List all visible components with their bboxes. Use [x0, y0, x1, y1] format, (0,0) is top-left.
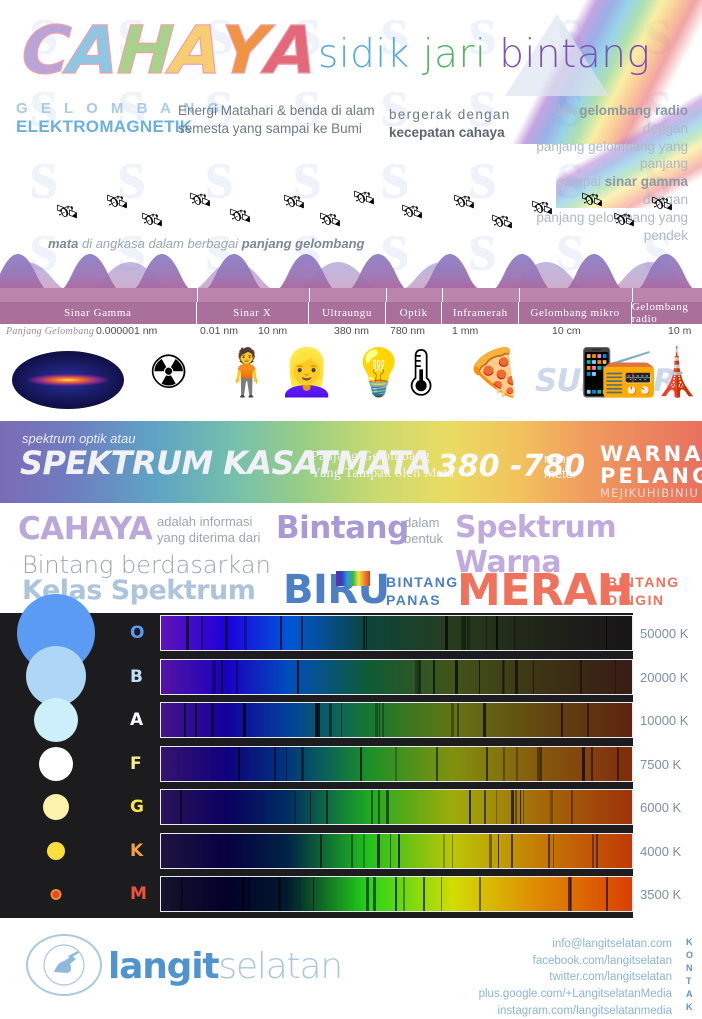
absorption-line — [502, 660, 504, 694]
badge-horse-icon — [36, 942, 92, 988]
satellite-icon: 🛰 — [282, 190, 306, 214]
satellite-icon: 🛰 — [188, 188, 212, 212]
absorption-line — [561, 703, 563, 737]
absorption-line — [244, 616, 247, 650]
title-letter-5: A — [263, 18, 317, 84]
em-scale-label-6: 10 cm — [552, 325, 581, 337]
em-band-sinar-x[interactable]: Sinar X — [197, 302, 309, 324]
em-spectrum-section: Sinar GammaSinar XUltraunguOptikInframer… — [0, 288, 702, 343]
title-letter-4: Y — [218, 18, 268, 84]
title-letter-3: A — [168, 18, 222, 84]
absorption-line — [242, 877, 244, 911]
class-label-F: F — [130, 754, 142, 774]
temperature-O: 50000 K — [640, 626, 702, 641]
intro-col3-line2: kecepatan cahaya — [389, 125, 505, 140]
kontak-letter: N — [686, 962, 694, 975]
satellite-icon: 🛰 — [228, 204, 252, 228]
absorption-line — [617, 747, 619, 781]
absorption-line — [457, 703, 459, 737]
absorption-line — [184, 703, 186, 737]
em-band-gelombang-radio[interactable]: Gelombang radio — [632, 302, 702, 324]
page-subtitle: sidik jari bintang — [318, 32, 650, 77]
satellite-icon: 🛰 — [140, 208, 164, 232]
absorption-line — [479, 877, 481, 911]
absorption-line — [516, 747, 518, 781]
em-tick — [442, 288, 443, 302]
spectrum-strip-F[interactable] — [160, 746, 633, 782]
satellite-icon: 🛰 — [318, 208, 342, 232]
absorption-line — [286, 747, 287, 781]
class-label-O: O — [130, 623, 144, 643]
rainbow-colors-label: WARNA PELANGI MEJIKUHIBINIU — [600, 443, 688, 499]
rainbow-line3: MEJIKUHIBINIU — [600, 487, 688, 499]
class-label-A: A — [130, 710, 143, 730]
absorption-line — [225, 616, 228, 650]
absorption-line — [423, 877, 425, 911]
absorption-line — [382, 703, 384, 737]
absorption-line — [596, 834, 598, 868]
spectrum-strip-O[interactable] — [160, 615, 633, 651]
absorption-line — [489, 834, 492, 868]
absorption-line — [553, 834, 554, 868]
absorption-line — [280, 616, 282, 650]
intro-row: G E L O M B A N G ELEKTROMAGNETIK Energi… — [0, 100, 702, 178]
kontak-letter: K — [686, 1001, 694, 1014]
absorption-line — [452, 834, 453, 868]
em-band-optik[interactable]: Optik — [386, 302, 442, 324]
brand-light: selatan — [218, 946, 342, 987]
spectrum-strip-M[interactable] — [160, 876, 633, 912]
em-scale-label-7: 10 m — [668, 325, 691, 337]
absorption-line — [301, 616, 303, 650]
class-label-M: M — [130, 884, 147, 904]
intro-col4-line1: dari gelombang radio dengan — [512, 102, 688, 138]
absorption-line — [433, 660, 435, 694]
absorption-line — [220, 834, 221, 868]
absorption-line — [520, 790, 521, 824]
satellite-icon: 🛰 — [452, 190, 476, 214]
stmt-cahaya: CAHAYA — [18, 511, 152, 547]
absorption-line — [341, 703, 342, 737]
spectrum-strip-B[interactable] — [160, 659, 633, 695]
infographic-page: CAHAYA sidik jari bintang G E L O M B A … — [0, 0, 702, 1000]
satellite-icon: 🛰 — [105, 190, 129, 214]
satellite-icon: 🛰 — [352, 186, 376, 210]
intro-col2-line2: semesta yang sampai ke Bumi — [178, 120, 375, 138]
stmt-bentuk-line2: bentuk — [404, 531, 443, 547]
stmt-bentuk-line1: dalam — [404, 515, 443, 531]
radio-tower-icon: 🗼 — [648, 349, 702, 395]
intro-col2-line1: Energi Matahari & benda di alam — [178, 102, 375, 120]
stmt-cahaya-note: adalah informasi yang diterima dari — [157, 514, 260, 547]
langitselatan-badge-icon — [26, 934, 102, 996]
class-label-K: K — [130, 841, 143, 861]
star-circle-A — [34, 698, 78, 742]
visible-unit-line1: nano — [544, 452, 577, 467]
stmt-merah-note: BINTANG DINGIN — [607, 574, 680, 609]
intro-col2: Energi Matahari & benda di alam semesta … — [178, 102, 375, 138]
class-label-B: B — [130, 667, 143, 687]
em-scale-label-5: 1 mm — [452, 325, 478, 337]
wave-graphic — [0, 230, 702, 288]
absorption-line — [274, 747, 276, 781]
optical-rainbow-marker — [336, 571, 370, 586]
absorption-line — [195, 703, 197, 737]
absorption-line — [498, 834, 499, 868]
absorption-line — [443, 834, 445, 868]
visible-pg-label: Panjang Gelombang Yang Tampak oleh Mata — [311, 449, 454, 482]
visible-unit-line2: meter — [544, 467, 577, 482]
absorption-line — [451, 703, 454, 737]
stmt-merah-line2: DINGIN — [607, 592, 680, 610]
temperature-A: 10000 K — [640, 713, 702, 728]
visible-spectrum-banner: spektrum optik atau SPEKTRUM KASATMATA P… — [0, 421, 702, 503]
subtitle-word-0: sidik — [318, 32, 423, 77]
gamma-sky-map-icon — [12, 351, 124, 409]
star-circle-K — [47, 842, 65, 860]
absorption-line — [366, 616, 367, 650]
absorption-line — [496, 790, 497, 824]
star-circle-G — [43, 794, 69, 820]
absorption-line — [371, 790, 373, 824]
title-letter-0: C — [20, 18, 71, 84]
absorption-line — [212, 660, 214, 694]
rainbow-line1: WARNA — [600, 443, 688, 465]
absorption-line — [582, 747, 585, 781]
absorption-line — [418, 660, 421, 694]
em-tick-row — [0, 288, 702, 302]
em-axis-label: Panjang Gelombang — [6, 326, 94, 337]
absorption-line — [591, 747, 593, 781]
absorption-line — [606, 616, 607, 650]
absorption-line — [377, 834, 380, 868]
absorption-line — [514, 616, 515, 650]
spectrum-strip-A[interactable] — [160, 702, 633, 738]
absorption-line — [503, 747, 505, 781]
absorption-line — [395, 877, 397, 911]
absorption-line — [363, 616, 365, 650]
em-tick — [519, 288, 520, 302]
temperature-F: 7500 K — [640, 757, 702, 772]
absorption-line — [363, 834, 365, 868]
satellite-icon: 🛰 — [612, 208, 636, 232]
contact-list[interactable]: info@langitselatan.comfacebook.com/langi… — [479, 936, 672, 1019]
absorption-line — [523, 790, 524, 824]
absorption-line — [297, 660, 299, 694]
absorption-line — [455, 660, 458, 694]
absorption-line — [243, 703, 246, 737]
em-scale-label-3: 380 nm — [334, 325, 369, 337]
kontak-label: KONTAK — [686, 936, 694, 1014]
absorption-line — [315, 703, 318, 737]
stmt-bentuk-note: dalam bentuk — [404, 515, 443, 546]
absorption-line — [395, 747, 397, 781]
absorption-line — [386, 790, 389, 824]
absorption-line — [329, 703, 332, 737]
subtitle-word-2: bintang — [499, 32, 650, 77]
absorption-line — [238, 747, 240, 781]
contact-item-4[interactable]: instagram.com/langitselatanmedia — [479, 1003, 672, 1019]
satellite-icon: 🛰 — [400, 200, 424, 224]
absorption-line — [398, 834, 400, 868]
contact-item-1[interactable]: facebook.com/langitselatan — [479, 953, 672, 970]
statements-section: CAHAYA adalah informasi yang diterima da… — [0, 503, 702, 613]
temperature-M: 3500 K — [640, 887, 702, 902]
absorption-line — [592, 834, 594, 868]
absorption-line — [479, 660, 480, 694]
satellite-icon: 🛰 — [55, 200, 79, 224]
brand-logo[interactable]: langitselatan — [108, 946, 342, 987]
em-sources-row: SUMBER ☢🧍👱‍♀️💡🌡🍕📱📻🗼 — [0, 343, 702, 421]
stmt-note-line1: adalah informasi — [157, 514, 260, 530]
rainbow-line2: PELANGI — [600, 465, 688, 487]
em-wavelength-scale: Panjang Gelombang 0.000001 nm0.01 nm10 n… — [0, 324, 702, 343]
contact-item-2[interactable]: twitter.com/langitselatan — [479, 969, 672, 986]
absorption-line — [360, 747, 362, 781]
absorption-line — [571, 790, 573, 824]
absorption-line — [186, 616, 189, 650]
satellite-icon: 🛰 — [650, 192, 674, 216]
temperature-G: 6000 K — [640, 800, 702, 815]
em-band-bar: Sinar GammaSinar XUltraunguOptikInframer… — [0, 302, 702, 324]
em-tick — [309, 288, 310, 302]
absorption-line — [201, 616, 203, 650]
absorption-line — [580, 660, 582, 694]
absorption-line — [511, 790, 514, 824]
absorption-line — [248, 877, 250, 911]
satellite-icon: 🛰 — [580, 188, 604, 212]
em-band-inframerah[interactable]: Inframerah — [442, 302, 519, 324]
intro-col3-line1: bergerak dengan — [389, 106, 511, 124]
uv-sunbathing-icon: 👱‍♀️ — [278, 349, 335, 395]
class-label-G: G — [130, 797, 144, 817]
absorption-line — [299, 877, 300, 911]
satellite-icon: 🛰 — [530, 196, 554, 220]
kontak-letter: A — [686, 988, 694, 1001]
brand-bold: langit — [108, 946, 218, 987]
absorption-line — [378, 790, 380, 824]
em-scale-label-1: 0.01 nm — [200, 325, 238, 337]
absorption-line — [403, 877, 405, 911]
temperature-B: 20000 K — [640, 670, 702, 685]
absorption-line — [445, 616, 448, 650]
absorption-line — [180, 790, 182, 824]
absorption-line — [375, 703, 378, 737]
absorption-line — [221, 660, 223, 694]
contact-item-3[interactable]: plus.google.com/+LangitselatanMedia — [479, 986, 672, 1003]
intro-col3: bergerak dengan kecepatan cahaya — [389, 106, 511, 142]
heater-icon: 🌡 — [392, 349, 450, 395]
em-scale-label-2: 10 nm — [258, 325, 287, 337]
absorption-line — [486, 747, 488, 781]
kontak-letter: K — [686, 936, 694, 949]
title-letter-2: H — [115, 18, 173, 84]
spectrum-strip-G[interactable] — [160, 789, 633, 825]
absorption-line — [515, 790, 517, 824]
xray-person-icon: 🧍 — [218, 349, 275, 395]
contact-item-0[interactable]: info@langitselatan.com — [479, 936, 672, 953]
spectrum-strip-K[interactable] — [160, 833, 633, 869]
absorption-line — [320, 834, 322, 868]
em-tick — [632, 288, 633, 302]
absorption-line — [483, 703, 486, 737]
kontak-letter: O — [686, 949, 694, 962]
star-circle-smallest — [53, 891, 60, 898]
page-title: CAHAYA — [22, 18, 315, 84]
absorption-line — [587, 703, 589, 737]
spectral-class-chart: O50000 KB20000 KA10000 KF7500 KG6000 KK4… — [0, 613, 702, 918]
absorption-line — [278, 877, 281, 911]
absorption-line — [548, 834, 550, 868]
em-scale-label-4: 780 nm — [390, 325, 425, 337]
absorption-line — [511, 834, 513, 868]
kontak-letter: T — [686, 975, 694, 988]
absorption-line — [379, 703, 380, 737]
absorption-line — [486, 616, 487, 650]
absorption-line — [236, 660, 238, 694]
em-scale-label-0: 0.000001 nm — [96, 325, 157, 337]
em-band-ultraungu[interactable]: Ultraungu — [309, 302, 386, 324]
stmt-bintang: Bintang — [276, 510, 409, 546]
visible-unit: nano meter — [544, 452, 577, 481]
footer: langitselatan info@langitselatan.comface… — [0, 918, 702, 1013]
absorption-line — [373, 877, 376, 911]
absorption-line — [366, 877, 369, 911]
stmt-note-line2: yang diterima dari — [157, 530, 260, 546]
em-band-gelombang-mikro[interactable]: Gelombang mikro — [519, 302, 631, 324]
absorption-line — [533, 660, 534, 694]
absorption-line — [211, 703, 214, 737]
stmt-merah-line1: BINTANG — [607, 574, 680, 592]
radiation-hazard-icon: ☢ — [148, 349, 189, 395]
satellites-section: 🛰🛰🛰🛰🛰🛰🛰🛰🛰🛰🛰🛰🛰🛰🛰 mata di angkasa dalam be… — [0, 178, 702, 288]
stmt-biru-line2: PANAS — [386, 592, 459, 610]
em-tick — [386, 288, 387, 302]
title-letter-1: A — [66, 18, 120, 84]
header: CAHAYA sidik jari bintang — [0, 0, 702, 100]
absorption-line — [313, 877, 314, 911]
subtitle-word-1: jari — [423, 32, 500, 77]
absorption-line — [441, 877, 442, 911]
visible-pg-line2: Yang Tampak oleh Mata — [311, 466, 454, 483]
absorption-line — [390, 834, 391, 868]
intro-col4-line2: panjang gelombang yang panjang — [512, 138, 688, 174]
absorption-line — [540, 747, 542, 781]
absorption-line — [469, 790, 471, 824]
star-circle-F — [39, 747, 73, 781]
absorption-line — [496, 616, 498, 650]
absorption-line — [326, 790, 328, 824]
absorption-line — [294, 790, 296, 824]
visible-pg-line1: Panjang Gelombang — [311, 449, 454, 466]
em-band-sinar-gamma[interactable]: Sinar Gamma — [0, 302, 197, 324]
star-size-column — [6, 613, 106, 918]
absorption-line — [606, 877, 608, 911]
absorption-line — [515, 660, 518, 694]
stmt-biru-note: BINTANG PANAS — [386, 574, 459, 609]
absorption-line — [301, 747, 304, 781]
absorption-line — [310, 790, 311, 824]
absorption-line — [615, 660, 616, 694]
absorption-line — [568, 877, 571, 911]
microwave-oven-icon: 🍕 — [466, 349, 523, 395]
absorption-line — [181, 877, 183, 911]
absorption-line — [351, 834, 353, 868]
temperature-K: 4000 K — [640, 844, 702, 859]
absorption-line — [484, 790, 486, 824]
absorption-line — [436, 747, 438, 781]
em-tick — [197, 288, 198, 302]
absorption-line — [550, 790, 553, 824]
absorption-line — [464, 616, 466, 650]
stmt-biru-line1: BINTANG — [386, 574, 459, 592]
absorption-line — [467, 616, 470, 650]
